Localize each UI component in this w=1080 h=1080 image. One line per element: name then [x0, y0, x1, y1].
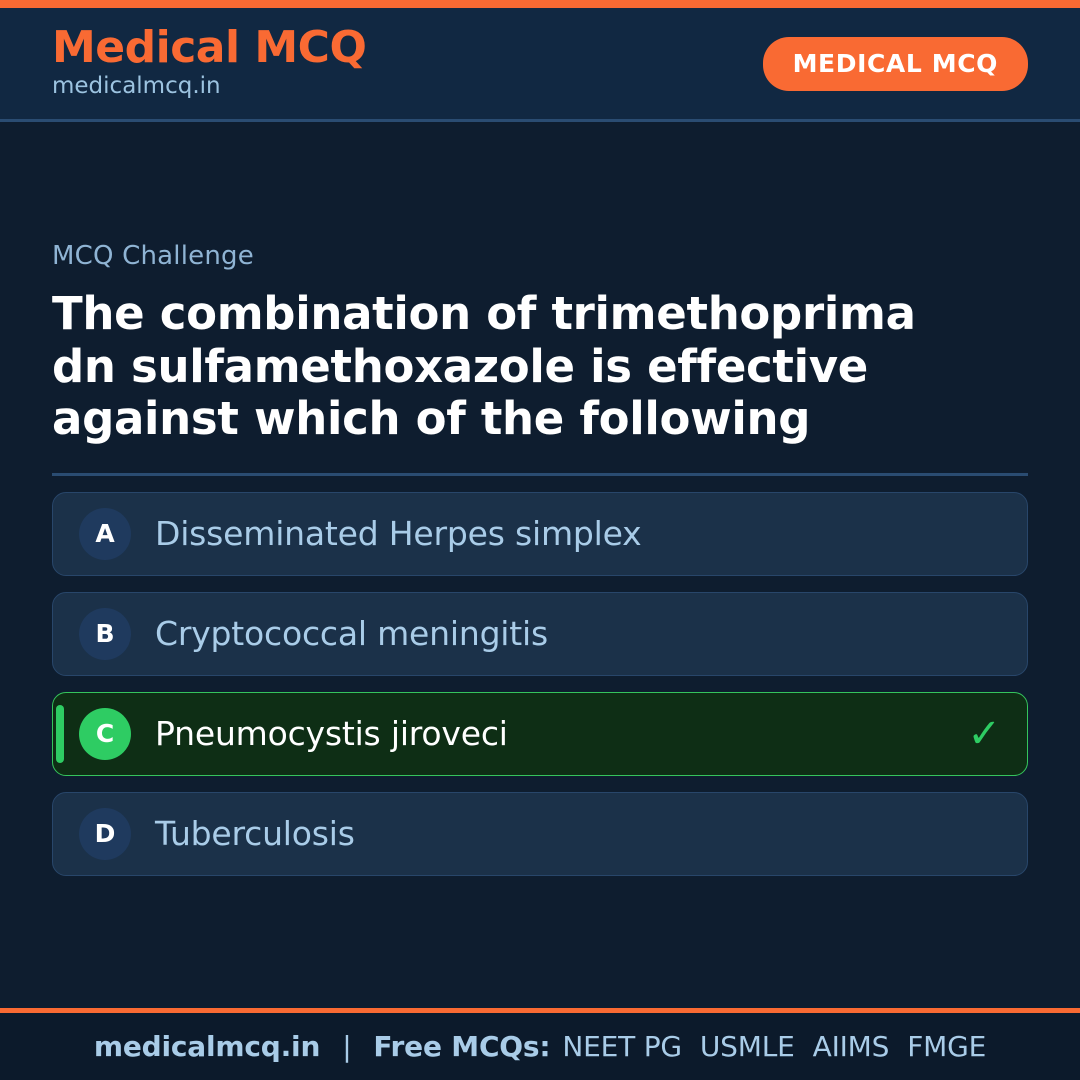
option-row-a[interactable]: A Disseminated Herpes simplex	[52, 492, 1028, 576]
option-letter-badge: A	[79, 508, 131, 560]
question-text: The combination of trimethoprima dn sulf…	[52, 288, 952, 446]
options-list: A Disseminated Herpes simplex B Cryptoco…	[52, 492, 1028, 876]
footer-exam-neet-pg[interactable]: NEET PG	[562, 1030, 682, 1063]
brand-subtitle: medicalmcq.in	[52, 72, 366, 102]
option-label: Tuberculosis	[155, 816, 957, 852]
option-row-b[interactable]: B Cryptococcal meningitis	[52, 592, 1028, 676]
option-label: Disseminated Herpes simplex	[155, 516, 957, 552]
brand: Medical MCQ medicalmcq.in	[52, 25, 366, 103]
option-label: Pneumocystis jiroveci	[155, 716, 957, 752]
check-icon: ✓	[957, 714, 1001, 754]
main-content: MCQ Challenge The combination of trimeth…	[0, 122, 1080, 1008]
header-badge: MEDICAL MCQ	[763, 37, 1028, 91]
top-accent-bar	[0, 0, 1080, 8]
option-letter-badge: C	[79, 708, 131, 760]
option-row-d[interactable]: D Tuberculosis	[52, 792, 1028, 876]
option-row-c[interactable]: C Pneumocystis jiroveci ✓	[52, 692, 1028, 776]
eyebrow-label: MCQ Challenge	[52, 243, 1028, 269]
header-bar: Medical MCQ medicalmcq.in MEDICAL MCQ	[0, 8, 1080, 122]
footer-bar: medicalmcq.in | Free MCQs: NEET PG USMLE…	[0, 1008, 1080, 1080]
footer-site-link[interactable]: medicalmcq.in	[94, 1030, 320, 1063]
option-letter-badge: D	[79, 808, 131, 860]
footer-text: medicalmcq.in | Free MCQs: NEET PG USMLE…	[94, 1030, 986, 1063]
footer-exam-aiims[interactable]: AIIMS	[813, 1030, 890, 1063]
footer-free-mcqs-label: Free MCQs:	[373, 1030, 550, 1063]
correct-accent-bar	[56, 705, 64, 763]
footer-separator: |	[342, 1030, 351, 1063]
footer-exam-fmge[interactable]: FMGE	[907, 1030, 986, 1063]
footer-exam-usmle[interactable]: USMLE	[700, 1030, 795, 1063]
mcq-card: Medical MCQ medicalmcq.in MEDICAL MCQ MC…	[0, 0, 1080, 1080]
question-divider	[52, 473, 1028, 476]
brand-title: Medical MCQ	[52, 25, 366, 71]
option-letter-badge: B	[79, 608, 131, 660]
option-label: Cryptococcal meningitis	[155, 616, 957, 652]
